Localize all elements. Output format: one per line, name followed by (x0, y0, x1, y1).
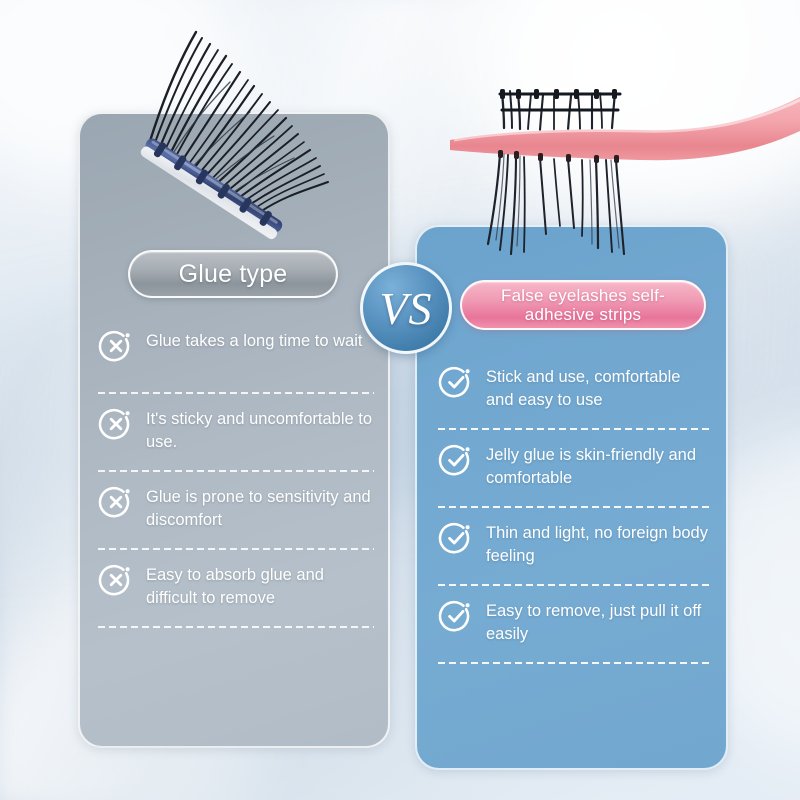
list-divider (98, 548, 374, 550)
list-divider (438, 584, 712, 586)
list-item-label: Glue takes a long time to wait (146, 326, 374, 353)
x-circle-icon (98, 484, 134, 520)
list-item-label: It's sticky and uncomfortable to use. (146, 404, 374, 455)
list-item: Easy to remove, just pull it off easily (438, 596, 712, 674)
list-divider (438, 428, 712, 430)
glue-type-drawback-list: Glue takes a long time to wait It's stic… (98, 326, 374, 638)
list-item-label: Glue is prone to sensitivity and discomf… (146, 482, 374, 533)
list-item-label: Jelly glue is skin-friendly and comforta… (486, 440, 712, 491)
glue-type-product-image (110, 0, 400, 234)
glue-type-title-badge: Glue type (128, 250, 338, 298)
list-item-label: Easy to remove, just pull it off easily (486, 596, 712, 647)
list-item: Stick and use, comfortable and easy to u… (438, 362, 712, 440)
check-circle-icon (438, 364, 474, 400)
list-item-label: Thin and light, no foreign body feeling (486, 518, 712, 569)
x-circle-icon (98, 562, 134, 598)
list-item: Glue takes a long time to wait (98, 326, 374, 404)
versus-label: VS (379, 282, 432, 335)
self-adhesive-benefit-list: Stick and use, comfortable and easy to u… (438, 362, 712, 674)
list-divider (98, 392, 374, 394)
list-divider (98, 626, 374, 628)
list-divider (438, 506, 712, 508)
list-item: Thin and light, no foreign body feeling (438, 518, 712, 596)
list-item: Glue is prone to sensitivity and discomf… (98, 482, 374, 560)
x-circle-icon (98, 328, 134, 364)
list-item-label: Stick and use, comfortable and easy to u… (486, 362, 712, 413)
self-adhesive-product-image (430, 58, 800, 298)
list-divider (438, 662, 712, 664)
check-circle-icon (438, 598, 474, 634)
glue-type-title-text: Glue type (179, 260, 288, 288)
check-circle-icon (438, 520, 474, 556)
list-item-label: Easy to absorb glue and difficult to rem… (146, 560, 374, 611)
list-item: It's sticky and uncomfortable to use. (98, 404, 374, 482)
x-circle-icon (98, 406, 134, 442)
list-divider (98, 470, 374, 472)
list-item: Jelly glue is skin-friendly and comforta… (438, 440, 712, 518)
check-circle-icon (438, 442, 474, 478)
list-item: Easy to absorb glue and difficult to rem… (98, 560, 374, 638)
comparison-infographic: Glue type Glue takes a long time to wait (0, 0, 800, 800)
versus-badge: VS (360, 262, 452, 354)
